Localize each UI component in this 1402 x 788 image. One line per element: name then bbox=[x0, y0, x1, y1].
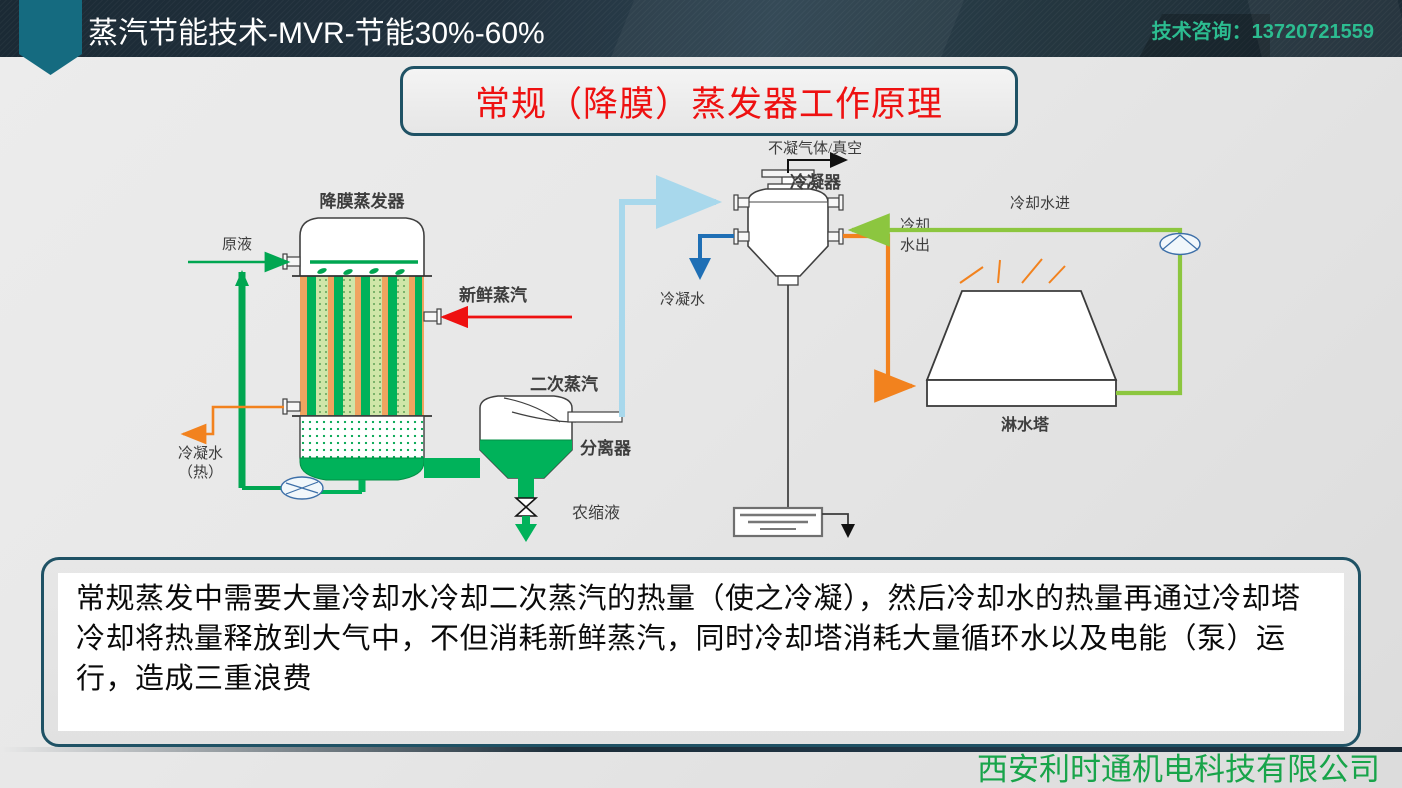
evaporator-label: 降膜蒸发器 bbox=[320, 191, 406, 211]
falling-film-evaporator: 降膜蒸发器 bbox=[283, 191, 441, 480]
spray-rays-icon bbox=[960, 259, 1065, 283]
evaporator-tubes bbox=[307, 276, 422, 416]
secondary-steam-label: 二次蒸汽 bbox=[530, 374, 598, 394]
slide-title-box: 常规（降膜）蒸发器工作原理 bbox=[400, 66, 1018, 136]
process-flow-diagram: 降膜蒸发器 原液 冷凝水 （热） 新鲜 bbox=[0, 140, 1402, 550]
fresh-steam-line: 新鲜蒸汽 bbox=[443, 285, 572, 317]
header-facet-light bbox=[602, 0, 968, 57]
concentrate-label: 农缩液 bbox=[572, 504, 620, 522]
feed-label: 原液 bbox=[222, 236, 252, 253]
cooling-tower: 淋水塔 bbox=[927, 259, 1116, 434]
cooling-tower-label: 淋水塔 bbox=[1001, 415, 1050, 434]
slide-title-text: 常规（降膜）蒸发器工作原理 bbox=[475, 76, 943, 127]
separator-vessel: 分离器 农缩液 bbox=[424, 396, 632, 542]
explanation-box: 常规蒸发中需要大量冷却水冷却二次蒸汽的热量（使之冷凝），然后冷却水的热量再通过冷… bbox=[41, 557, 1361, 747]
condensate-label: 冷凝水 bbox=[660, 291, 705, 308]
cooling-pump-icon bbox=[1160, 234, 1200, 255]
condensate-hot-label-2: （热） bbox=[178, 464, 223, 481]
hot-condensate-line: 冷凝水 （热） bbox=[178, 407, 284, 481]
seal-tank bbox=[734, 508, 855, 538]
condensate-hot-label-1: 冷凝水 bbox=[178, 445, 223, 462]
recirculation-riser bbox=[235, 270, 296, 488]
condenser-label: 冷凝器 bbox=[790, 172, 842, 192]
cooling-water-out-label-2: 水出 bbox=[900, 237, 930, 254]
pentagon-banner-icon bbox=[19, 0, 82, 75]
explanation-inner: 常规蒸发中需要大量冷却水冷却二次蒸汽的热量（使之冷凝），然后冷却水的热量再通过冷… bbox=[58, 573, 1344, 731]
header-bar: 蒸汽节能技术-MVR-节能30%-60% 技术咨询：13720721559 bbox=[0, 0, 1402, 57]
noncondensable-label: 不凝气体/真空 bbox=[768, 140, 862, 157]
noncondensable-line: 不凝气体/真空 bbox=[768, 140, 862, 173]
feed-line: 原液 bbox=[188, 236, 288, 262]
cooling-water-in-label: 冷却水进 bbox=[1010, 195, 1070, 212]
contact-info: 技术咨询：13720721559 bbox=[1152, 15, 1374, 44]
separator-label: 分离器 bbox=[580, 438, 632, 458]
condenser-condensate-line: 冷凝水 bbox=[660, 236, 734, 308]
page-title: 蒸汽节能技术-MVR-节能30%-60% bbox=[88, 8, 545, 52]
drain-valve-icon bbox=[516, 498, 536, 516]
fresh-steam-label: 新鲜蒸汽 bbox=[459, 285, 527, 305]
explanation-text: 常规蒸发中需要大量冷却水冷却二次蒸汽的热量（使之冷凝），然后冷却水的热量再通过冷… bbox=[76, 579, 1328, 699]
condenser-vessel: 冷凝器 bbox=[734, 170, 843, 285]
cooling-water-out-line: 冷却 水出 bbox=[843, 217, 930, 386]
footer-company-name: 西安利时通机电科技有限公司 bbox=[977, 744, 1380, 788]
slide-canvas: 蒸汽节能技术-MVR-节能30%-60% 技术咨询：13720721559 常规… bbox=[0, 0, 1402, 788]
secondary-steam-line: 二次蒸汽 bbox=[530, 202, 716, 417]
